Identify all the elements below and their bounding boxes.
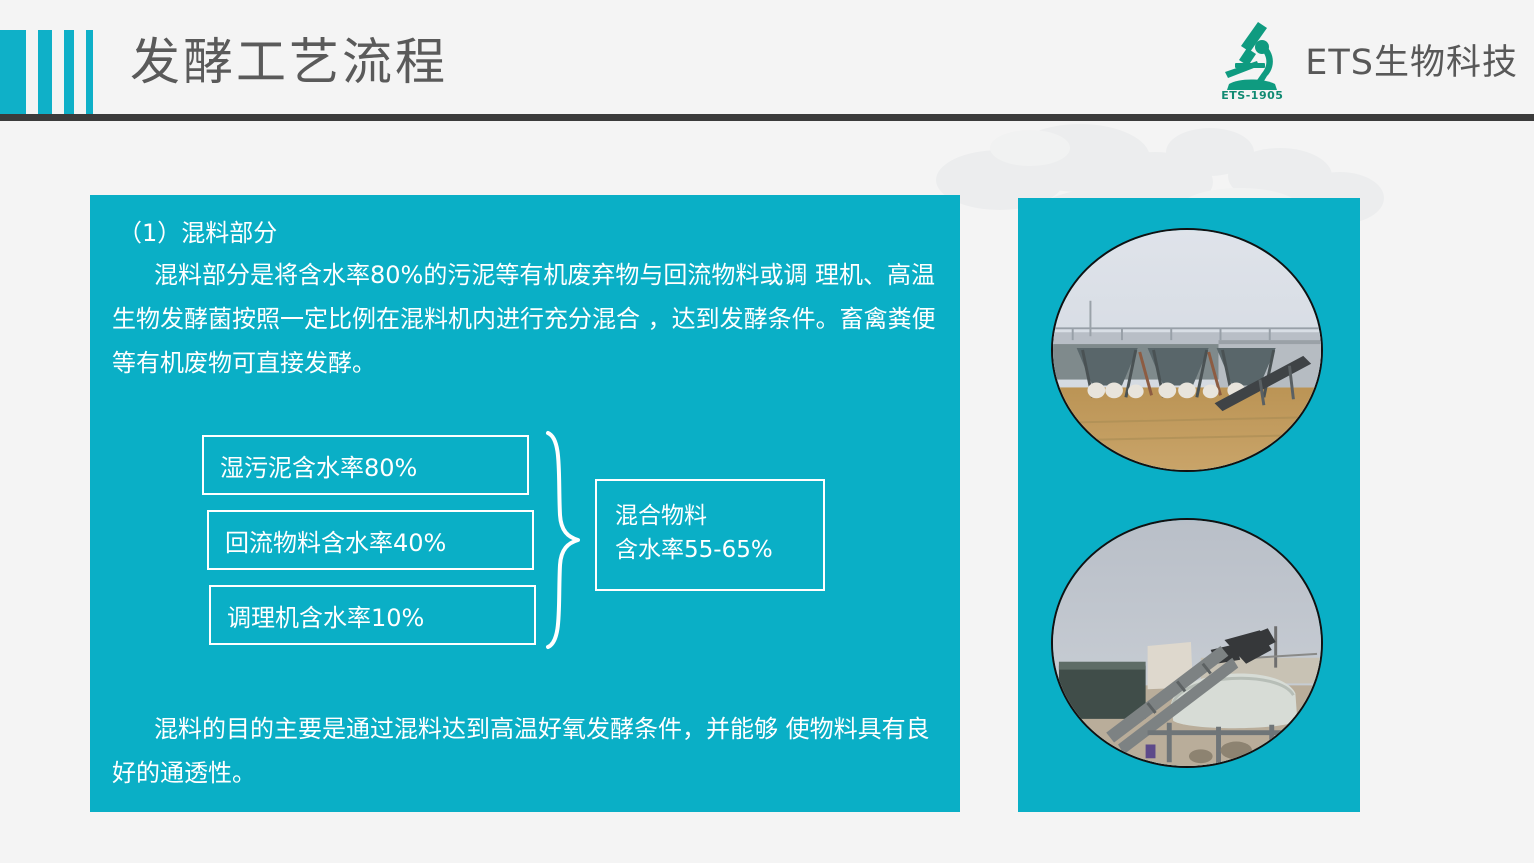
header-accent-bars (0, 30, 105, 114)
slide: 发酵工艺流程 (0, 0, 1534, 863)
accent-bar-3 (64, 30, 74, 114)
microscope-icon: ETS-1905 (1217, 16, 1291, 102)
page-title: 发酵工艺流程 (130, 22, 448, 102)
material-flow-diagram: 湿污泥含水率80% 回流物料含水率40% 调理机含水率10% 混合物料 含水率5… (90, 435, 960, 665)
outro-paragraph: 混料的目的主要是通过混料达到高温好氧发酵条件，并能够 使物料具有良好的通透性。 (112, 707, 948, 795)
input-box-return-material: 回流物料含水率40% (207, 510, 534, 570)
input-box-wet-sludge: 湿污泥含水率80% (202, 435, 529, 495)
curly-brace-right-icon (542, 429, 588, 651)
accent-bar-1 (0, 30, 26, 114)
header-divider (0, 114, 1534, 121)
brand-lockup: ETS-1905 ETS生物科技 (1217, 16, 1518, 102)
intro-paragraph: 混料部分是将含水率80%的污泥等有机废弃物与回流物料或调 理机、高温生物发酵菌按… (112, 253, 948, 385)
section-heading: （1）混料部分 (118, 213, 277, 253)
brand-name: ETS生物科技 (1305, 34, 1518, 85)
logo-caption: ETS-1905 (1221, 89, 1283, 102)
photo-hoppers-conveyor (1051, 228, 1323, 472)
accent-bar-2 (38, 30, 52, 114)
photo-mixer-machinery (1051, 518, 1323, 768)
output-box-mixed-material: 混合物料 含水率55-65% (595, 479, 825, 591)
content-panel: （1）混料部分 混料部分是将含水率80%的污泥等有机废弃物与回流物料或调 理机、… (90, 195, 960, 812)
footer-area (0, 815, 1534, 863)
input-box-conditioner: 调理机含水率10% (209, 585, 536, 645)
photo-panel (1018, 198, 1360, 812)
page-header: 发酵工艺流程 (0, 0, 1534, 114)
accent-bar-4 (86, 30, 93, 114)
